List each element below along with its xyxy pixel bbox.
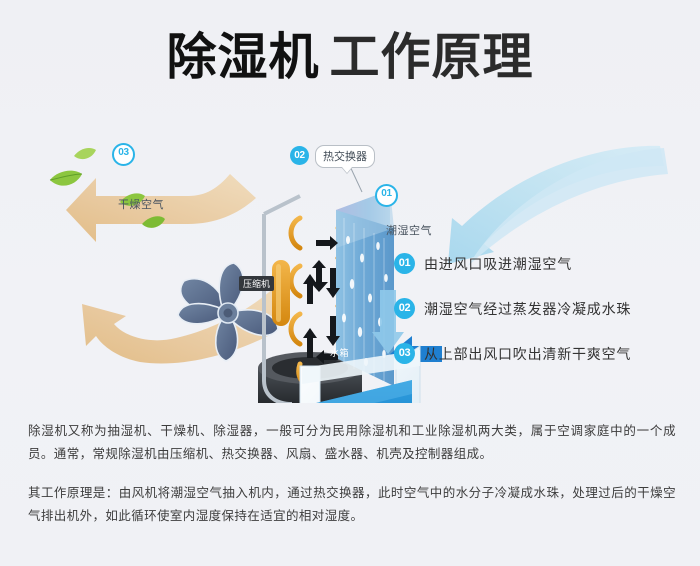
humid-air-arrow [448,146,668,266]
accumulator-cylinder [272,260,290,326]
title-part-one: 除湿机 [167,29,320,85]
step-legend: 01 由进风口吸进潮湿空气 02 潮湿空气经过蒸发器冷凝成水珠 03 从上部出风… [394,252,694,387]
legend-label-01: 由进风口吸进潮湿空气 [424,254,572,274]
legend-label-02: 潮湿空气经过蒸发器冷凝成水珠 [424,299,631,319]
label-heat-exchanger: 热交换器 [315,145,375,168]
description-block: 除湿机又称为抽湿机、干燥机、除湿器，一般可分为民用除湿机和工业除湿机两大类，属于… [28,420,676,528]
page-title: 除湿机工作原理 [0,28,700,86]
label-compressor: 压缩机 [239,276,274,291]
diagram-badge-03: 03 [112,143,135,166]
label-dry-air: 干燥空气 [118,196,164,212]
title-part-two: 工作原理 [330,29,534,85]
diagram-badge-01: 01 [375,184,398,207]
legend-badge-03: 03 [394,343,415,364]
legend-label-03: 从上部出风口吹出清新干爽空气 [424,344,631,364]
label-water-tank: 水箱 [330,346,349,359]
description-paragraph-2: 其工作原理是：由风机将潮湿空气抽入机内，通过热交换器，此时空气中的水分子冷凝成水… [28,482,676,528]
legend-item-02: 02 潮湿空气经过蒸发器冷凝成水珠 [394,297,694,320]
legend-badge-02: 02 [394,298,415,319]
legend-badge-01: 01 [394,253,415,274]
label-humid-air: 潮湿空气 [386,222,432,238]
description-paragraph-1: 除湿机又称为抽湿机、干燥机、除湿器，一般可分为民用除湿机和工业除湿机两大类，属于… [28,420,676,466]
infographic-page: 除湿机工作原理 [0,0,700,566]
legend-item-01: 01 由进风口吸进潮湿空气 [394,252,694,275]
diagram-badge-02: 02 [290,146,309,165]
legend-item-03: 03 从上部出风口吹出清新干爽空气 [394,342,694,365]
